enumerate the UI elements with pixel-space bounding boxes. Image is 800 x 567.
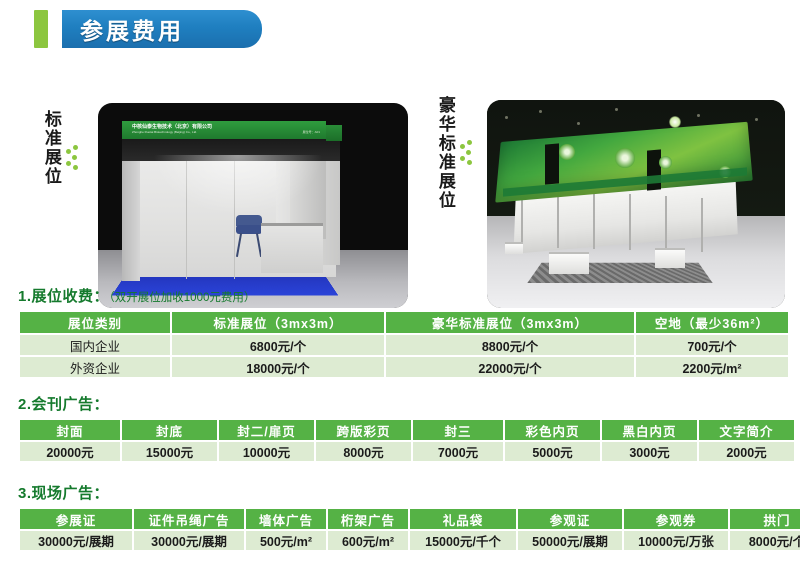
page-banner: 参展费用: [34, 10, 262, 48]
col-header-gift-bag: 礼品袋: [410, 509, 516, 531]
cell-foreign-label: 外资企业: [20, 357, 170, 379]
col-header-spread: 跨版彩页: [316, 420, 411, 442]
cell-wall-ad-price: 500元/m²: [246, 531, 326, 552]
booth-photos-row: 标准展位 豪华标准展位 中核仙泰生物技术（北京）有限公司 Zhon: [0, 48, 800, 273]
col-header-color-inner: 彩色内页: [505, 420, 600, 442]
col-header-booth-type: 展位类别: [20, 312, 170, 335]
col-header-exhibitor-badge: 参展证: [20, 509, 132, 531]
table-row: 国内企业 6800元/个 8800元/个 700元/个: [20, 335, 788, 357]
section-1-number: 1.: [18, 288, 32, 305]
cell-domestic-standard: 6800元/个: [172, 335, 384, 357]
col-header-lanyard-ad: 证件吊绳广告: [134, 509, 244, 531]
cell-foreign-standard: 18000元/个: [172, 357, 384, 379]
arrow-dots-icon-left: [66, 145, 86, 179]
col-header-inside-front: 封二/扉页: [219, 420, 314, 442]
col-header-front-cover: 封面: [20, 420, 120, 442]
col-header-standard-booth: 标准展位（3mx3m）: [172, 312, 384, 335]
table-header-row: 封面 封底 封二/扉页 跨版彩页 封三 彩色内页 黑白内页 文字简介: [20, 420, 794, 442]
booth-counter-desk: [261, 223, 323, 273]
cell-lanyard-ad-price: 30000元/展期: [134, 531, 244, 552]
cell-spread-price: 8000元: [316, 442, 411, 463]
table-header-row: 参展证 证件吊绳广告 墙体广告 桁架广告 礼品袋 参观证 参观券 拱门: [20, 509, 800, 531]
cell-color-inner-price: 5000元: [505, 442, 600, 463]
col-header-visitor-ticket: 参观券: [624, 509, 728, 531]
cell-back-cover-price: 15000元: [122, 442, 217, 463]
booth-number-text: 展位号：A01: [303, 130, 320, 134]
col-header-back-cover: 封底: [122, 420, 217, 442]
section-1-heading: 展位收费：: [32, 288, 110, 305]
table-row: 外资企业 18000元/个 22000元/个 2200元/m²: [20, 357, 788, 379]
banner-accent-bar: [34, 10, 48, 48]
standard-booth-image: 中核仙泰生物技术（北京）有限公司 Zhonghe Ruotai Biotechn…: [98, 103, 408, 308]
section-onsite-ads: 3.现场广告： 参展证 证件吊绳广告 墙体广告 桁架广告 礼品袋 参观证 参观券…: [18, 482, 784, 552]
cell-truss-ad-price: 600元/m²: [328, 531, 408, 552]
section-2-heading: 会刊广告：: [32, 396, 110, 413]
cell-front-cover-price: 20000元: [20, 442, 120, 463]
table-row: 20000元 15000元 10000元 8000元 7000元 5000元 3…: [20, 442, 794, 463]
col-header-wall-ad: 墙体广告: [246, 509, 326, 531]
col-header-visitor-badge: 参观证: [518, 509, 622, 531]
cell-domestic-deluxe: 8800元/个: [386, 335, 634, 357]
page-title: 参展费用: [62, 12, 184, 46]
col-header-text-profile: 文字简介: [699, 420, 794, 442]
section-2-title: 2.会刊广告：: [18, 393, 784, 414]
col-header-inside-back: 封三: [413, 420, 503, 442]
standard-booth-label-text: 标准展位: [42, 110, 60, 186]
col-header-deluxe-booth: 豪华标准展位（3mx3m）: [386, 312, 634, 335]
section-1-title: 1.展位收费：（双开展位加收1000元费用）: [18, 285, 784, 306]
booth-company-name-cn: 中核仙泰生物技术（北京）有限公司: [132, 123, 212, 130]
onsite-ads-table: 参展证 证件吊绳广告 墙体广告 桁架广告 礼品袋 参观证 参观券 拱门 3000…: [18, 509, 800, 552]
banner-plate: 参展费用: [62, 10, 262, 48]
cell-domestic-label: 国内企业: [20, 335, 170, 357]
deluxe-booth-label-text: 豪华标准展位: [436, 96, 454, 210]
cell-exhibitor-badge-price: 30000元/展期: [20, 531, 132, 552]
section-3-heading: 现场广告：: [32, 485, 110, 502]
booth-fascia-sign: 中核仙泰生物技术（北京）有限公司 Zhonghe Ruotai Biotechn…: [122, 121, 326, 139]
page-root: 参展费用 标准展位 豪华标准展位: [0, 0, 800, 567]
catalog-ads-table: 封面 封底 封二/扉页 跨版彩页 封三 彩色内页 黑白内页 文字简介 20000…: [18, 420, 796, 463]
table-row: 30000元/展期 30000元/展期 500元/m² 600元/m² 1500…: [20, 531, 800, 552]
ceiling-spotlight: [669, 116, 681, 128]
cell-arch-price: 8000元/个: [730, 531, 800, 552]
cell-gift-bag-price: 15000元/千个: [410, 531, 516, 552]
cell-inside-front-price: 10000元: [219, 442, 314, 463]
cell-visitor-ticket-price: 10000元/万张: [624, 531, 728, 552]
booth-fee-table: 展位类别 标准展位（3mx3m） 豪华标准展位（3mx3m） 空地（最少36m²…: [18, 312, 790, 379]
cell-visitor-badge-price: 50000元/展期: [518, 531, 622, 552]
deluxe-booth-image: [487, 100, 785, 308]
section-3-number: 3.: [18, 485, 32, 502]
col-header-open-space: 空地（最少36m²）: [636, 312, 788, 335]
cell-bw-inner-price: 3000元: [602, 442, 697, 463]
cell-text-profile-price: 2000元: [699, 442, 794, 463]
cell-foreign-space: 2200元/m²: [636, 357, 788, 379]
col-header-truss-ad: 桁架广告: [328, 509, 408, 531]
booth-light-glow: [153, 155, 323, 215]
section-3-title: 3.现场广告：: [18, 482, 784, 503]
section-booth-fees: 1.展位收费：（双开展位加收1000元费用） 展位类别 标准展位（3mx3m） …: [18, 285, 784, 379]
col-header-arch: 拱门: [730, 509, 800, 531]
booth-company-name-en: Zhonghe Ruotai Biotechnology (Beijing) C…: [132, 130, 197, 134]
cell-domestic-space: 700元/个: [636, 335, 788, 357]
table-header-row: 展位类别 标准展位（3mx3m） 豪华标准展位（3mx3m） 空地（最少36m²…: [20, 312, 788, 335]
section-2-number: 2.: [18, 396, 32, 413]
cell-inside-back-price: 7000元: [413, 442, 503, 463]
arrow-dots-icon-right: [460, 140, 480, 174]
col-header-bw-inner: 黑白内页: [602, 420, 697, 442]
section-catalog-ads: 2.会刊广告： 封面 封底 封二/扉页 跨版彩页 封三 彩色内页 黑白内页 文字…: [18, 393, 784, 463]
cell-foreign-deluxe: 22000元/个: [386, 357, 634, 379]
section-1-note: （双开展位加收1000元费用）: [109, 292, 255, 304]
